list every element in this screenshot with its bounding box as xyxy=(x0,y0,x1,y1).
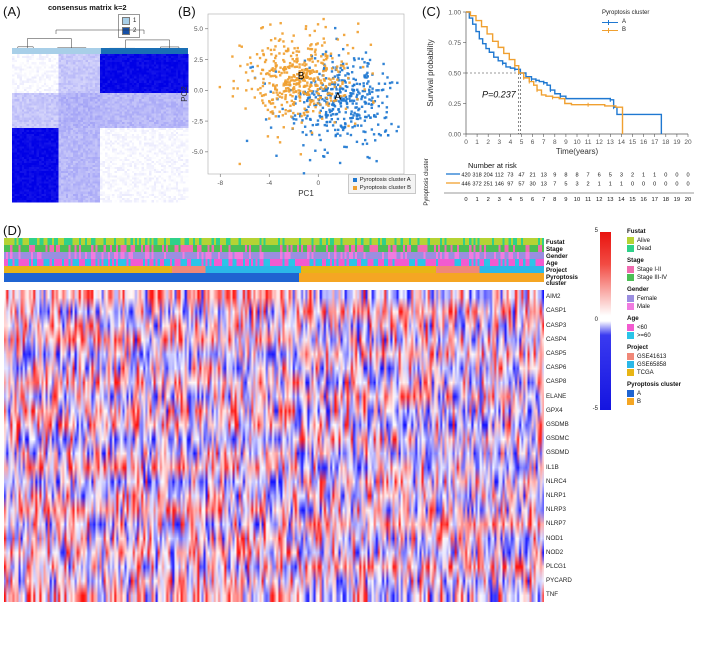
gene-label-pycard: PYCARD xyxy=(546,577,572,584)
panel-c-label: (C) xyxy=(422,4,441,19)
annotation-label-gender: Gender xyxy=(546,253,568,260)
legend-group-title: Stage xyxy=(627,257,681,264)
legend-item-label: Dead xyxy=(637,246,651,252)
color-swatch xyxy=(353,178,357,182)
legend-group-title: Pyroptosis cluster xyxy=(627,381,681,388)
gene-label-tnf: TNF xyxy=(546,591,558,598)
color-swatch xyxy=(353,186,357,190)
legend-group-gender: GenderFemaleMale xyxy=(627,286,681,310)
annotation-row-age xyxy=(4,259,544,266)
annotation-label-cluster: cluster xyxy=(546,280,566,287)
panel-b-label: (B) xyxy=(178,4,196,19)
heatmap-legend: FustatAliveDeadStageStage I-IIStage III-… xyxy=(627,228,681,410)
survival-legend-label: B xyxy=(622,27,626,33)
consensus-matrix-plot xyxy=(0,22,200,222)
gene-label-casp4: CASP4 xyxy=(546,336,566,343)
legend-item: Dead xyxy=(627,245,681,252)
legend-group-title: Fustat xyxy=(627,228,681,235)
gene-label-elane: ELANE xyxy=(546,393,566,400)
legend-item: GSE65858 xyxy=(627,361,681,368)
kaplan-meier-plot: 0.000.250.500.751.0001234567891011121314… xyxy=(420,0,709,222)
legend-group-title: Project xyxy=(627,344,681,351)
color-swatch xyxy=(627,303,634,310)
legend-item: Stage III-IV xyxy=(627,274,681,281)
gene-label-il1b: IL1B xyxy=(546,464,559,471)
legend-item: <60 xyxy=(627,324,681,331)
legend-item: TCGA xyxy=(627,369,681,376)
pca-legend-label: Pyroptosis cluster B xyxy=(360,185,411,191)
annotation-label-project: Project xyxy=(546,267,567,274)
legend-item-label: TCGA xyxy=(637,370,654,376)
legend-item-label: A xyxy=(637,391,641,397)
color-swatch xyxy=(627,324,634,331)
legend-item-label: GSE65858 xyxy=(637,362,666,368)
legend-item-label: Alive xyxy=(637,238,650,244)
color-swatch xyxy=(627,274,634,281)
legend-item: GSE41613 xyxy=(627,353,681,360)
annotation-row-stage xyxy=(4,245,544,252)
gene-expression-heatmap xyxy=(4,290,544,602)
panel-c-survival-plot: (C) Pyroptosis cluster A B 0.000.250.500… xyxy=(420,0,709,222)
annotation-label-fustat: Fustat xyxy=(546,239,565,246)
legend-group-age: Age<60>=60 xyxy=(627,315,681,339)
gene-label-nod1: NOD1 xyxy=(546,535,563,542)
legend-item: >=60 xyxy=(627,332,681,339)
colorbar-tick-5: 5 xyxy=(590,228,598,234)
gene-label-gsdmc: GSDMC xyxy=(546,435,569,442)
colorbar-tick-neg5: -5 xyxy=(590,406,598,412)
legend-item: Male xyxy=(627,303,681,310)
annotation-row-project xyxy=(4,266,544,273)
legend-item: B xyxy=(627,398,681,405)
gene-label-plcg1: PLCG1 xyxy=(546,563,566,570)
panel-a-consensus-matrix: (A) consensus matrix k=2 1 2 xyxy=(0,0,200,222)
color-swatch xyxy=(627,245,634,252)
gene-label-aim2: AIM2 xyxy=(546,293,560,300)
legend-group-fustat: FustatAliveDead xyxy=(627,228,681,252)
panel-a-label: (A) xyxy=(3,4,21,19)
survival-legend-title: Pyroptosis cluster xyxy=(602,10,649,16)
color-swatch xyxy=(627,295,634,302)
legend-item: Stage I-II xyxy=(627,266,681,273)
legend-item: Alive xyxy=(627,237,681,244)
annotation-row-fustat xyxy=(4,238,544,245)
color-swatch xyxy=(627,390,634,397)
heatmap-container xyxy=(4,238,544,282)
legend-item-label: Stage III-IV xyxy=(637,275,667,281)
survival-legend-item-b: B xyxy=(602,27,649,33)
annotation-label-age: Age xyxy=(546,260,558,267)
legend-item-label: <60 xyxy=(637,325,647,331)
legend-group-pyroptosis-cluster: Pyroptosis clusterAB xyxy=(627,381,681,405)
annotation-row-gender xyxy=(4,252,544,259)
legend-item-label: B xyxy=(637,399,641,405)
legend-group-title: Age xyxy=(627,315,681,322)
legend-item-label: Stage I-II xyxy=(637,267,661,273)
legend-group-title: Gender xyxy=(627,286,681,293)
legend-group-stage: StageStage I-IIStage III-IV xyxy=(627,257,681,281)
gene-label-gsdmb: GSDMB xyxy=(546,421,569,428)
line-swatch xyxy=(602,22,618,23)
gene-label-nlrp3: NLRP3 xyxy=(546,506,566,513)
line-swatch xyxy=(602,30,618,31)
gene-label-casp1: CASP1 xyxy=(546,307,566,314)
legend-group-project: ProjectGSE41613GSE65858TCGA xyxy=(627,344,681,376)
gene-label-nlrp7: NLRP7 xyxy=(546,520,566,527)
gene-label-nlrc4: NLRC4 xyxy=(546,478,566,485)
color-swatch xyxy=(627,361,634,368)
survival-legend-label: A xyxy=(622,19,626,25)
legend-item-label: Male xyxy=(637,304,650,310)
color-swatch xyxy=(627,237,634,244)
color-swatch xyxy=(627,353,634,360)
annotation-label-stage: Stage xyxy=(546,246,563,253)
gene-label-nod2: NOD2 xyxy=(546,549,563,556)
pca-legend-item-a: Pyroptosis cluster A xyxy=(353,177,411,183)
annotation-row-pyroptosis-cluster xyxy=(4,273,544,282)
color-swatch xyxy=(627,266,634,273)
gene-label-gpx4: GPX4 xyxy=(546,407,563,414)
colorbar-tick-0: 0 xyxy=(590,317,598,323)
gene-label-casp3: CASP3 xyxy=(546,322,566,329)
color-swatch xyxy=(627,398,634,405)
gene-label-casp6: CASP6 xyxy=(546,364,566,371)
panel-d-label: (D) xyxy=(3,223,22,238)
legend-item-label: GSE41613 xyxy=(637,354,666,360)
gene-label-nlrp1: NLRP1 xyxy=(546,492,566,499)
survival-legend: Pyroptosis cluster A B xyxy=(602,10,649,35)
panel-b-pca-scatter: (B) -8-404-5.0-2.50.02.55.0PC1PC2AB Pyro… xyxy=(176,0,420,222)
legend-item: Female xyxy=(627,295,681,302)
pca-legend: Pyroptosis cluster A Pyroptosis cluster … xyxy=(348,174,416,194)
color-swatch xyxy=(627,369,634,376)
panel-d-gene-heatmap: (D) FustatAliveDeadStageStage I-IIStage … xyxy=(0,224,709,650)
pca-legend-item-b: Pyroptosis cluster B xyxy=(353,185,411,191)
legend-item-label: Female xyxy=(637,296,657,302)
panel-a-title: consensus matrix k=2 xyxy=(48,3,127,12)
heatmap-colorbar xyxy=(600,232,611,410)
legend-item-label: >=60 xyxy=(637,333,651,339)
gene-label-gsdmd: GSDMD xyxy=(546,449,569,456)
color-swatch xyxy=(627,332,634,339)
survival-legend-item-a: A xyxy=(602,19,649,25)
gene-label-casp5: CASP5 xyxy=(546,350,566,357)
gene-label-casp8: CASP8 xyxy=(546,378,566,385)
legend-item: A xyxy=(627,390,681,397)
pca-legend-label: Pyroptosis cluster A xyxy=(360,177,411,183)
